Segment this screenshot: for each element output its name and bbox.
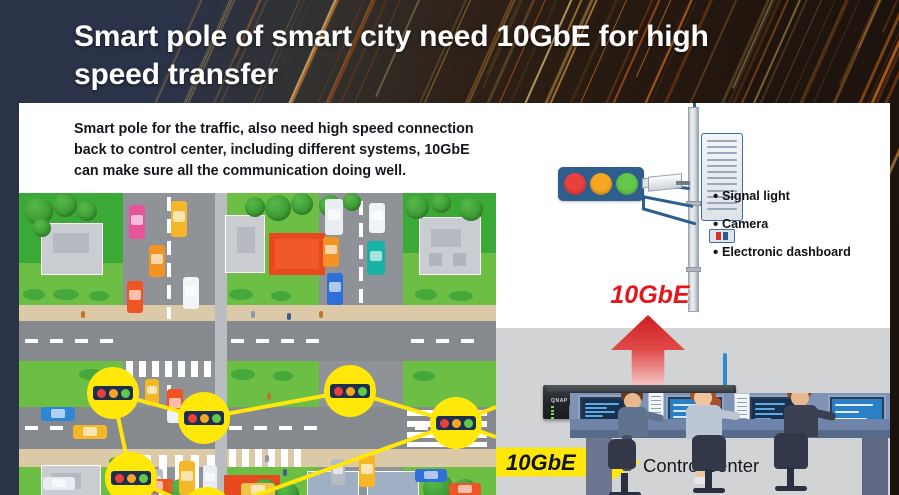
camera-mount (676, 181, 690, 185)
body-paragraph: Smart pole for the traffic, also need hi… (74, 119, 566, 182)
city-traffic-map (19, 193, 496, 495)
pole-collar (686, 267, 701, 272)
traffic-light-node-5[interactable] (105, 452, 157, 495)
list-item: • Signal light (713, 189, 851, 204)
pole-component-list: • Signal light • Camera • Electronic das… (713, 189, 851, 273)
traffic-light-node-2[interactable] (178, 392, 230, 444)
content-panel: Smart pole for the traffic, also need hi… (19, 103, 890, 495)
traffic-light-indicator (330, 384, 370, 398)
traffic-light-node-3[interactable] (324, 365, 376, 417)
traffic-light-node-1[interactable] (87, 367, 139, 419)
uplink-arrow-group: 10GbE (585, 281, 715, 391)
traffic-network-links (19, 193, 496, 495)
list-item: • Camera (713, 217, 851, 232)
bullet-icon: • (713, 217, 722, 232)
desk-pillar (862, 438, 888, 495)
pole-traffic-light[interactable] (558, 167, 644, 201)
uplink-speed-label: 10GbE (585, 281, 715, 310)
office-chair (692, 435, 726, 471)
bullet-icon: • (713, 245, 722, 260)
office-chair (608, 439, 636, 469)
control-room-illustration (562, 393, 890, 495)
list-item-label: Camera (722, 218, 768, 231)
uplink-arrow-up-icon (611, 315, 685, 391)
network-cable (723, 353, 727, 387)
traffic-light-indicator (111, 471, 151, 485)
slide-title: Smart pole of smart city need 10GbE for … (74, 18, 854, 95)
switch-top-face (547, 385, 733, 392)
traffic-light-node-4[interactable] (430, 397, 482, 449)
bullet-icon: • (713, 189, 722, 204)
office-chair (774, 433, 808, 469)
traffic-light-indicator (436, 416, 476, 430)
list-item-label: Signal light (722, 190, 790, 203)
traffic-light-indicator (184, 411, 224, 425)
streetlight-arm (693, 103, 793, 112)
list-item-label: Electronic dashboard (722, 246, 851, 259)
traffic-light-indicator (93, 386, 133, 400)
list-item: • Electronic dashboard (713, 245, 851, 260)
